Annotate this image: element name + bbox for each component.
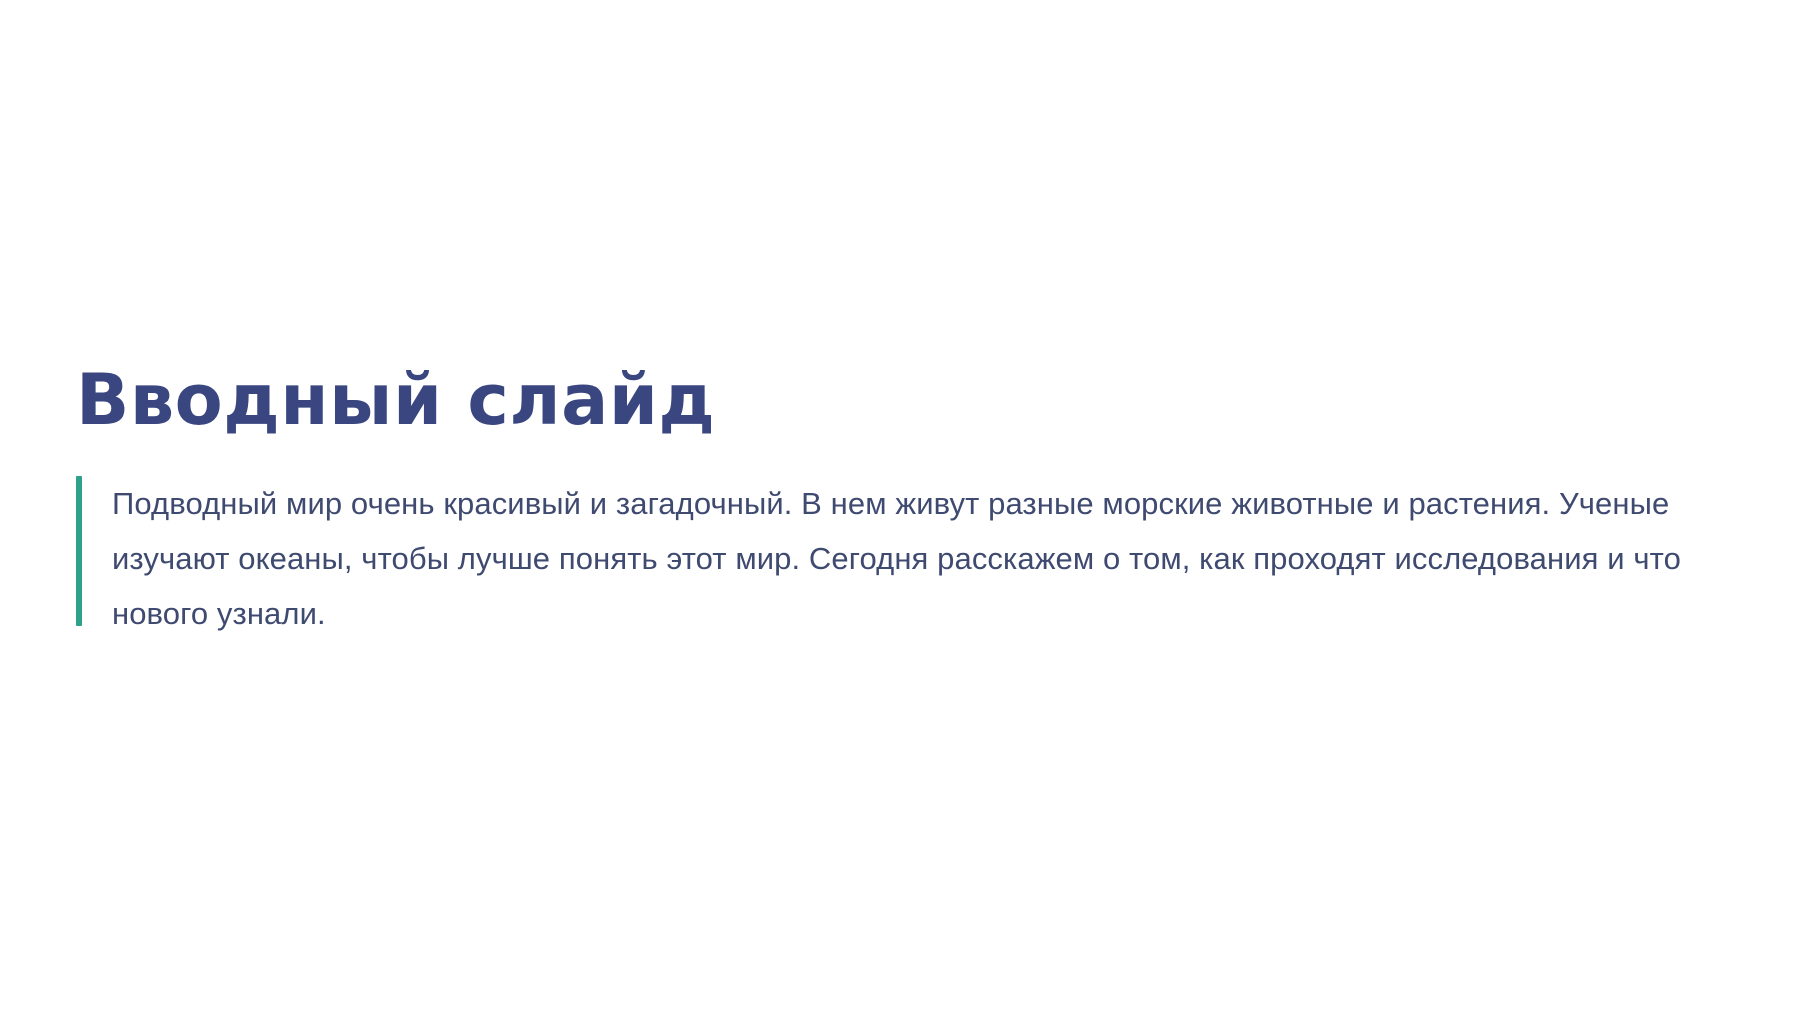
page-title: Вводный слайд (76, 360, 1736, 440)
body-text-block: Подводный мир очень красивый и загадочны… (76, 476, 1736, 641)
accent-bar (76, 476, 82, 626)
slide-canvas: Вводный слайд Подводный мир очень красив… (0, 0, 1800, 1013)
slide-content-block: Вводный слайд Подводный мир очень красив… (76, 360, 1736, 641)
body-paragraph: Подводный мир очень красивый и загадочны… (112, 476, 1727, 641)
